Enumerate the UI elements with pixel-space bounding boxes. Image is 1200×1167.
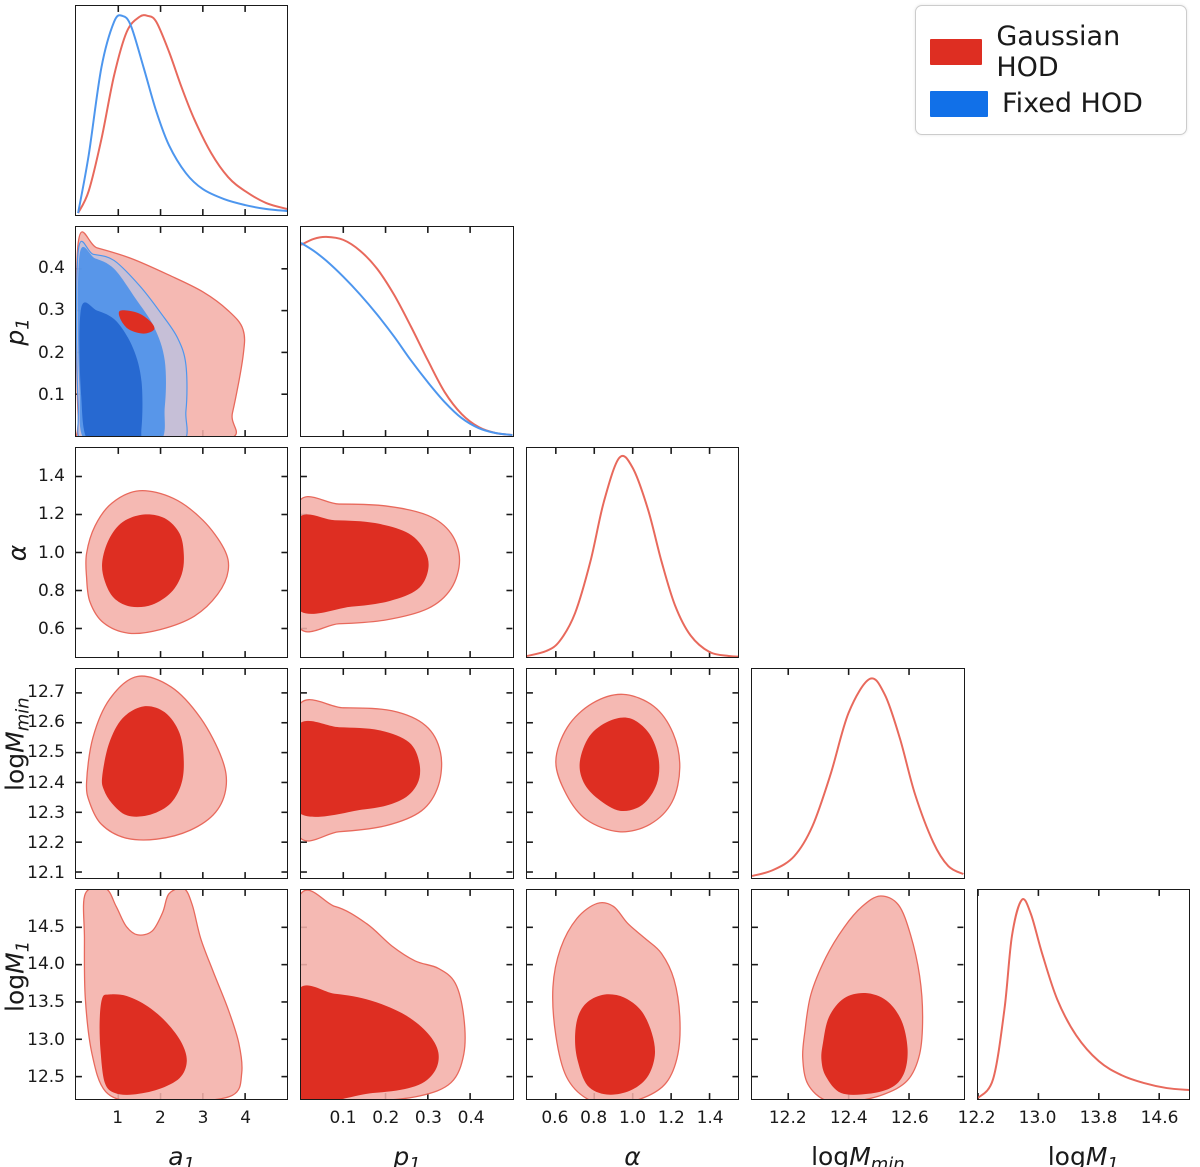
ytick-label-alpha-4: 1.4: [0, 466, 65, 486]
yaxis-label-logMmin: logMmin: [0, 757, 33, 791]
xaxis-label-p1: p1: [393, 1142, 420, 1167]
joint-panel-p1-logM1: [300, 889, 513, 1100]
ytick-label-logM1-4: 14.5: [0, 917, 65, 937]
joint-panel-a1-logMmin: [75, 668, 288, 879]
xtick-label-alpha-3: 1.2: [658, 1108, 685, 1128]
marginal-panel-logMmin: [751, 668, 964, 879]
corner-plot-figure: 1234a10.10.20.30.4p10.60.81.01.21.4α12.2…: [0, 0, 1200, 1167]
xtick-label-p1-3: 0.4: [458, 1108, 485, 1128]
legend-item-gaussian-hod[interactable]: Gaussian HOD: [930, 21, 1172, 83]
yaxis-label-alpha: α: [3, 536, 32, 570]
xtick-label-logMmin-2: 12.6: [891, 1108, 929, 1128]
legend-swatch-gaussian-hod: [930, 39, 982, 65]
xaxis-label-alpha: α: [624, 1142, 640, 1167]
xaxis-label-a1: a1: [168, 1142, 195, 1167]
ytick-label-p1-3: 0.4: [0, 258, 65, 278]
legend: Gaussian HODFixed HOD: [915, 5, 1187, 135]
xtick-label-logMmin-0: 12.2: [769, 1108, 807, 1128]
ytick-label-logMmin-0: 12.1: [0, 863, 65, 883]
ytick-label-p1-0: 0.1: [0, 385, 65, 405]
ytick-label-alpha-1: 0.8: [0, 581, 65, 601]
marginal-panel-alpha: [526, 447, 739, 658]
ytick-label-logMmin-2: 12.3: [0, 803, 65, 823]
xtick-label-logM1-2: 13.8: [1080, 1108, 1118, 1128]
ytick-label-logMmin-1: 12.2: [0, 833, 65, 853]
marginal-panel-logM1: [977, 889, 1190, 1100]
marginal-panel-a1: [75, 5, 288, 216]
ytick-label-logM1-1: 13.0: [0, 1030, 65, 1050]
joint-panel-p1-logMmin: [300, 668, 513, 879]
xtick-label-alpha-0: 0.6: [541, 1108, 568, 1128]
xtick-label-alpha-1: 0.8: [580, 1108, 607, 1128]
joint-panel-p1-alpha: [300, 447, 513, 658]
xtick-label-a1-0: 1: [112, 1108, 123, 1128]
joint-panel-alpha-logMmin: [526, 668, 739, 879]
ytick-label-alpha-0: 0.6: [0, 619, 65, 639]
xtick-label-p1-2: 0.3: [415, 1108, 442, 1128]
joint-panel-logMmin-logM1: [751, 889, 964, 1100]
joint-panel-a1-alpha: [75, 447, 288, 658]
xtick-label-a1-1: 2: [155, 1108, 166, 1128]
yaxis-label-p1: p1: [0, 315, 33, 349]
xtick-label-p1-0: 0.1: [330, 1108, 357, 1128]
marginal-panel-p1: [300, 226, 513, 437]
legend-item-fixed-hod[interactable]: Fixed HOD: [930, 88, 1172, 119]
legend-swatch-fixed-hod: [930, 91, 988, 117]
xtick-label-a1-3: 4: [240, 1108, 251, 1128]
xtick-label-logM1-3: 14.6: [1141, 1108, 1179, 1128]
xaxis-label-logMmin: logMmin: [811, 1142, 905, 1167]
xaxis-label-logM1: logM1: [1048, 1142, 1119, 1167]
xtick-label-logM1-1: 13.0: [1019, 1108, 1057, 1128]
xtick-label-a1-2: 3: [198, 1108, 209, 1128]
joint-panel-a1-logM1: [75, 889, 288, 1100]
yaxis-label-logM1: logM1: [0, 978, 33, 1012]
xtick-label-alpha-4: 1.4: [697, 1108, 724, 1128]
legend-label-gaussian-hod: Gaussian HOD: [996, 21, 1172, 83]
xtick-label-p1-1: 0.2: [372, 1108, 399, 1128]
xtick-label-logMmin-1: 12.4: [830, 1108, 868, 1128]
xtick-label-alpha-2: 1.0: [619, 1108, 646, 1128]
legend-label-fixed-hod: Fixed HOD: [1002, 88, 1143, 119]
ytick-label-logM1-0: 12.5: [0, 1067, 65, 1087]
ytick-label-alpha-3: 1.2: [0, 504, 65, 524]
joint-panel-a1-p1: [75, 226, 288, 437]
xtick-label-logM1-0: 12.2: [958, 1108, 996, 1128]
joint-panel-alpha-logM1: [526, 889, 739, 1100]
